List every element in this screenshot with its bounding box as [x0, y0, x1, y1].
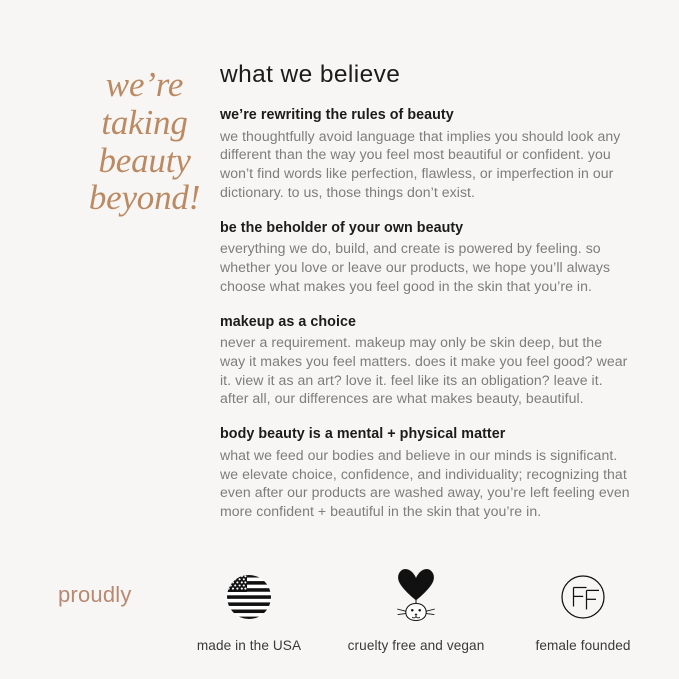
belief-block: body beauty is a mental + physical matte… — [220, 425, 631, 521]
belief-body: never a requirement. makeup may only be … — [220, 333, 631, 408]
badge-female-founded: female founded — [500, 566, 666, 653]
believe-section: what we believe we’re rewriting the rule… — [220, 62, 679, 521]
badge-caption: cruelty free and vegan — [348, 638, 485, 653]
belief-body: we thoughtfully avoid language that impl… — [220, 127, 631, 202]
badge-caption: made in the USA — [197, 638, 301, 653]
badge-caption: female founded — [535, 638, 630, 653]
page-title: what we believe — [220, 62, 631, 89]
belief-body: what we feed our bodies and believe in o… — [220, 446, 631, 521]
badge-cruelty-free: cruelty free and vegan — [333, 566, 499, 653]
badge-made-in-usa: made in the USA — [166, 566, 332, 653]
belief-heading: body beauty is a mental + physical matte… — [220, 425, 631, 445]
usa-flag-circle-icon — [226, 566, 272, 628]
belief-block: makeup as a choice never a requirement. … — [220, 313, 631, 409]
belief-block: be the beholder of your own beauty every… — [220, 219, 631, 296]
brand-headline-line-3: beauty — [82, 142, 207, 180]
badge-list: made in the USA — [166, 566, 666, 653]
brand-headline-line-1: we’re — [82, 66, 207, 104]
belief-block: we’re rewriting the rules of beauty we t… — [220, 106, 631, 202]
believe-page: we’re taking beauty beyond! what we beli… — [0, 0, 679, 679]
belief-heading: makeup as a choice — [220, 313, 631, 333]
proudly-label: proudly — [58, 582, 132, 608]
belief-heading: be the beholder of your own beauty — [220, 219, 631, 239]
brand-headline-line-2: taking — [82, 104, 207, 142]
content-area: we’re taking beauty beyond! what we beli… — [0, 62, 679, 521]
proudly-strip: proudly — [0, 566, 679, 666]
brand-headline-line-4: beyond! — [82, 179, 207, 217]
belief-heading: we’re rewriting the rules of beauty — [220, 106, 631, 126]
ff-monogram-circle-icon — [559, 566, 607, 628]
bunny-heart-ears-icon — [393, 566, 439, 628]
belief-body: everything we do, build, and create is p… — [220, 239, 631, 295]
brand-headline: we’re taking beauty beyond! — [82, 62, 207, 217]
